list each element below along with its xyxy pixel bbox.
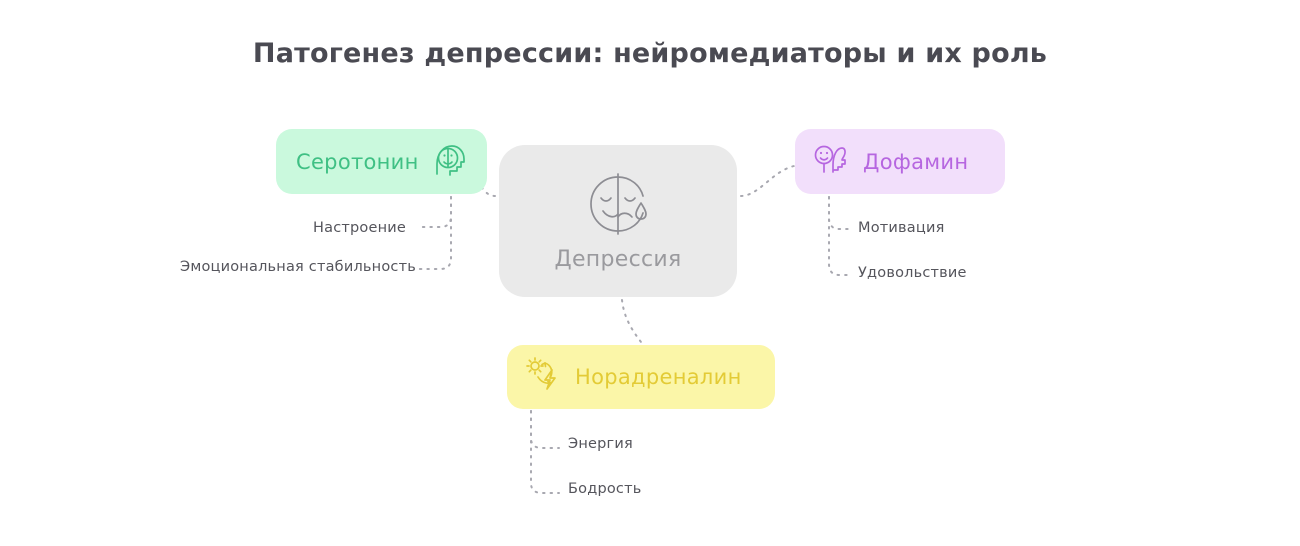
node-serotonin-label: Серотонин (296, 150, 419, 174)
head-with-smiley-face-icon (431, 141, 469, 183)
leaf-serotonin-stability[interactable]: Эмоциональная стабильность (180, 259, 416, 275)
edge-center-dopamine (741, 165, 800, 196)
leaf-dopamine-motivation[interactable]: Мотивация (858, 220, 945, 236)
edge-serotonin-mood (422, 197, 451, 227)
node-dopamine[interactable]: Дофамин (795, 129, 1005, 194)
edge-serotonin-stability (418, 197, 451, 269)
page-title: Патогенез депрессии: нейромедиаторы и их… (0, 38, 1300, 69)
edge-noradrenalin-vigor (531, 411, 559, 493)
node-noradrenalin-label: Норадреналин (575, 365, 742, 389)
leaf-noradrenalin-energy[interactable]: Энергия (568, 436, 633, 452)
edge-noradrenalin-energy (531, 411, 559, 448)
node-depression-label: Депрессия (554, 247, 681, 272)
node-noradrenalin[interactable]: Норадреналин (507, 345, 775, 409)
leaf-noradrenalin-vigor[interactable]: Бодрость (568, 481, 641, 497)
smiley-head-profile-icon (811, 141, 849, 183)
split-face-sad-happy-icon (585, 171, 651, 241)
edge-dopamine-motivation (829, 197, 851, 229)
node-serotonin[interactable]: Серотонин (276, 129, 487, 194)
leaf-serotonin-mood[interactable]: Настроение (313, 220, 406, 236)
sun-arrows-lightning-icon (523, 355, 563, 399)
node-depression[interactable]: Депрессия (499, 145, 737, 297)
leaf-dopamine-pleasure[interactable]: Удовольствие (858, 265, 967, 281)
edge-dopamine-pleasure (829, 197, 851, 275)
diagram-canvas: Патогенез депрессии: нейромедиаторы и их… (0, 0, 1300, 546)
node-dopamine-label: Дофамин (863, 150, 968, 174)
edge-center-noradrenalin (622, 300, 641, 342)
